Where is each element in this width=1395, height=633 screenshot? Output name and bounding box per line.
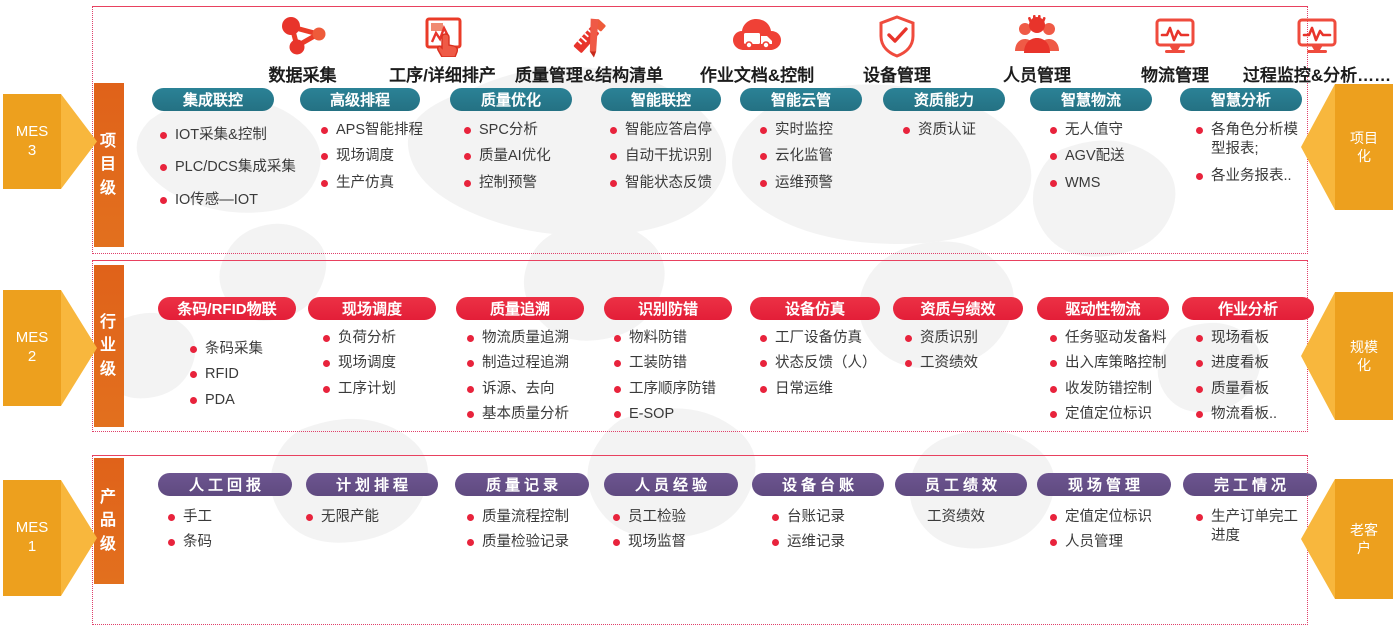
list-item: 生产仿真 bbox=[321, 174, 423, 193]
list-item: PDA bbox=[190, 391, 263, 410]
list-item: 日常运维 bbox=[760, 380, 877, 399]
pill-label: 人员经验 bbox=[631, 474, 711, 495]
list-mes2-col7: 现场看板 进度看板 质量看板 物流看板.. bbox=[1196, 329, 1277, 430]
pill-mes2-col2[interactable]: 质量追溯 bbox=[456, 297, 584, 320]
list-mes3-col5: 资质认证 bbox=[903, 121, 976, 147]
list-item: 物流看板.. bbox=[1196, 405, 1277, 424]
level-bar-project: 项 目 级 bbox=[94, 83, 124, 247]
list-mes2-col3: 物料防错 工装防错 工序顺序防错 E-SOP bbox=[614, 329, 716, 430]
pill-mes2-col5[interactable]: 资质与绩效 bbox=[893, 297, 1023, 320]
outcome-chevron-existing-customer-line2: 户 bbox=[1350, 539, 1378, 557]
pill-mes2-col0[interactable]: 条码/RFID物联 bbox=[158, 297, 296, 320]
pill-label: 资质与绩效 bbox=[920, 298, 995, 319]
monitor-pulse-icon bbox=[1152, 13, 1198, 59]
list-item: WMS bbox=[1050, 174, 1125, 193]
list-item: 各角色分析模型报表; bbox=[1196, 121, 1304, 160]
list-mes3-col0: IOT采集&控制 PLC/DCS集成采集 IO传感—IOT bbox=[160, 126, 296, 223]
stage-chevron-mes2[interactable]: MES 2 bbox=[3, 290, 61, 406]
list-item: AGV配送 bbox=[1050, 147, 1125, 166]
top-module-title: 工序/详细排产 bbox=[389, 61, 496, 86]
top-module-title: 物流管理 bbox=[1141, 61, 1209, 86]
pill-mes1-col3[interactable]: 人员经验 bbox=[604, 473, 738, 496]
pill-label: 人工回报 bbox=[185, 474, 265, 495]
list-item: 基本质量分析 bbox=[467, 405, 569, 424]
pill-label: 驱动性物流 bbox=[1065, 298, 1140, 319]
mes-capability-matrix-diagram: MES 3 MES 2 MES 1 项 目 级 行 业 级 产 品 级 项目 bbox=[0, 0, 1395, 633]
level-bar-industry-char-0: 行 bbox=[100, 311, 118, 334]
list-item: 智能应答启停 bbox=[610, 121, 712, 140]
list-item: 工序计划 bbox=[323, 380, 396, 399]
pill-mes1-col1[interactable]: 计划排程 bbox=[306, 473, 438, 496]
outcome-chevron-scale-line1: 规模 bbox=[1350, 338, 1378, 356]
list-item: 收发防错控制 bbox=[1050, 380, 1167, 399]
list-item: 工资绩效 bbox=[912, 508, 985, 527]
list-mes1-col7: 生产订单完工进度 bbox=[1196, 508, 1308, 553]
pill-label: 计划排程 bbox=[332, 474, 412, 495]
list-item: SPC分析 bbox=[464, 121, 551, 140]
scheduling-icon bbox=[420, 13, 466, 59]
list-item: 条码 bbox=[168, 533, 212, 552]
list-item: PLC/DCS集成采集 bbox=[160, 158, 296, 177]
pill-mes3-col4[interactable]: 智能云管 bbox=[740, 88, 862, 111]
level-bar-project-char-2: 级 bbox=[100, 177, 118, 200]
pill-label: 识别防错 bbox=[638, 298, 698, 319]
outcome-chevron-scale-line2: 化 bbox=[1350, 356, 1378, 374]
pill-label: 现场管理 bbox=[1064, 474, 1144, 495]
list-mes1-col2: 质量流程控制 质量检验记录 bbox=[467, 508, 569, 559]
list-item: 诉源、去向 bbox=[467, 380, 569, 399]
top-module-title: 质量管理&结构清单 bbox=[515, 61, 663, 86]
top-module-equipment[interactable]: 设备管理 bbox=[822, 6, 972, 86]
stage-chevron-mes1-line1: MES bbox=[16, 519, 49, 538]
pill-mes3-col3[interactable]: 智能联控 bbox=[601, 88, 721, 111]
level-bar-industry-char-1: 业 bbox=[100, 334, 118, 357]
pill-label: 智能云管 bbox=[771, 89, 831, 110]
level-bar-product-char-0: 产 bbox=[100, 486, 118, 509]
list-mes3-col7: 各角色分析模型报表; 各业务报表.. bbox=[1196, 121, 1304, 193]
people-group-icon bbox=[1013, 13, 1061, 59]
list-item: 台账记录 bbox=[772, 508, 845, 527]
list-item: 运维预警 bbox=[760, 174, 833, 193]
top-module-strip: 数据采集 工序/详细排产 bbox=[92, 6, 1308, 86]
list-item: 实时监控 bbox=[760, 121, 833, 140]
list-item: 无限产能 bbox=[306, 508, 379, 527]
list-mes2-col4: 工厂设备仿真 状态反馈（人） 日常运维 bbox=[760, 329, 877, 405]
pill-label: 智能联控 bbox=[631, 89, 691, 110]
list-item: 资质识别 bbox=[905, 329, 978, 348]
list-item: 质量AI优化 bbox=[464, 147, 551, 166]
level-bar-industry: 行 业 级 bbox=[94, 265, 124, 427]
pill-label: 质量优化 bbox=[481, 89, 541, 110]
top-module-title: 作业文档&控制 bbox=[700, 61, 814, 86]
list-item: 资质认证 bbox=[903, 121, 976, 140]
outcome-chevron-projectization-line2: 化 bbox=[1350, 147, 1378, 165]
list-mes1-col5: 工资绩效 bbox=[912, 508, 985, 533]
pill-mes3-col1[interactable]: 高级排程 bbox=[300, 88, 420, 111]
top-module-title: 过程监控&分析…… bbox=[1243, 61, 1391, 86]
list-mes2-col5: 资质识别 工资绩效 bbox=[905, 329, 978, 380]
pill-label: 现场调度 bbox=[342, 298, 402, 319]
top-module-title: 设备管理 bbox=[863, 61, 931, 86]
stage-chevron-mes2-line1: MES bbox=[16, 329, 49, 348]
list-item: 现场看板 bbox=[1196, 329, 1277, 348]
pill-mes3-col6[interactable]: 智慧物流 bbox=[1030, 88, 1152, 111]
list-mes2-col1: 负荷分析 现场调度 工序计划 bbox=[323, 329, 396, 405]
list-item: 自动干扰识别 bbox=[610, 147, 712, 166]
pill-mes1-col0[interactable]: 人工回报 bbox=[158, 473, 292, 496]
list-item: 现场调度 bbox=[321, 147, 423, 166]
level-bar-product-char-2: 级 bbox=[100, 533, 118, 556]
list-item: 工资绩效 bbox=[905, 354, 978, 373]
list-item: 状态反馈（人） bbox=[760, 354, 877, 373]
stage-chevron-mes3-line1: MES bbox=[16, 123, 49, 142]
level-bar-project-char-1: 目 bbox=[100, 153, 118, 176]
pill-mes1-col6[interactable]: 现场管理 bbox=[1037, 473, 1171, 496]
list-item: RFID bbox=[190, 365, 263, 384]
list-item: 任务驱动发备料 bbox=[1050, 329, 1167, 348]
pill-mes2-col7[interactable]: 作业分析 bbox=[1182, 297, 1314, 320]
pill-label: 条码/RFID物联 bbox=[177, 298, 276, 319]
list-mes2-col0: 条码采集 RFID PDA bbox=[190, 340, 263, 416]
list-item: 手工 bbox=[168, 508, 212, 527]
list-item: 物流质量追溯 bbox=[467, 329, 569, 348]
level-bar-product-char-1: 品 bbox=[100, 509, 118, 532]
list-item: IOT采集&控制 bbox=[160, 126, 296, 145]
list-item: 工厂设备仿真 bbox=[760, 329, 877, 348]
list-item: 控制预警 bbox=[464, 174, 551, 193]
pill-label: 智慧分析 bbox=[1211, 89, 1271, 110]
outcome-chevron-projectization[interactable]: 项目 化 bbox=[1335, 84, 1393, 210]
top-module-title: 人员管理 bbox=[1003, 61, 1071, 86]
pill-label: 设备仿真 bbox=[785, 298, 845, 319]
list-item: 负荷分析 bbox=[323, 329, 396, 348]
monitor-pulse-icon bbox=[1294, 13, 1340, 59]
quality-ruler-icon bbox=[566, 13, 612, 59]
list-item: 制造过程追溯 bbox=[467, 354, 569, 373]
list-item: 定值定位标识 bbox=[1050, 508, 1152, 527]
list-mes3-col1: APS智能排程 现场调度 生产仿真 bbox=[321, 121, 423, 200]
data-collection-icon bbox=[277, 13, 329, 59]
list-item: APS智能排程 bbox=[321, 121, 423, 140]
list-mes1-col3: 员工检验 现场监督 bbox=[613, 508, 686, 559]
pill-label: 集成联控 bbox=[183, 89, 243, 110]
list-item: 定值定位标识 bbox=[1050, 405, 1167, 424]
list-item: 出入库策略控制 bbox=[1050, 354, 1167, 373]
pill-mes2-col6[interactable]: 驱动性物流 bbox=[1037, 297, 1169, 320]
list-item: 运维记录 bbox=[772, 533, 845, 552]
stage-chevron-mes3-line2: 3 bbox=[16, 142, 49, 161]
pill-mes2-col1[interactable]: 现场调度 bbox=[308, 297, 436, 320]
pill-label: 设备台账 bbox=[778, 474, 858, 495]
pill-mes2-col4[interactable]: 设备仿真 bbox=[750, 297, 880, 320]
pill-mes1-col4[interactable]: 设备台账 bbox=[752, 473, 884, 496]
top-module-title: 数据采集 bbox=[269, 61, 337, 86]
top-module-personnel[interactable]: 人员管理 bbox=[962, 6, 1112, 86]
pill-label: 质量追溯 bbox=[490, 298, 550, 319]
list-item: 无人值守 bbox=[1050, 121, 1125, 140]
list-item: 工序顺序防错 bbox=[614, 380, 716, 399]
list-item: 工装防错 bbox=[614, 354, 716, 373]
list-item: 员工检验 bbox=[613, 508, 686, 527]
level-bar-product: 产 品 级 bbox=[94, 458, 124, 584]
list-item: 云化监管 bbox=[760, 147, 833, 166]
list-mes2-col6: 任务驱动发备料 出入库策略控制 收发防错控制 定值定位标识 bbox=[1050, 329, 1167, 430]
shield-check-icon bbox=[876, 13, 918, 59]
pill-mes3-col7[interactable]: 智慧分析 bbox=[1180, 88, 1302, 111]
list-item: 质量检验记录 bbox=[467, 533, 569, 552]
pill-mes1-col5[interactable]: 员工绩效 bbox=[895, 473, 1027, 496]
top-module-process-monitoring[interactable]: 过程监控&分析…… bbox=[1222, 6, 1395, 86]
list-item: 物料防错 bbox=[614, 329, 716, 348]
pill-label: 员工绩效 bbox=[921, 474, 1001, 495]
list-mes2-col2: 物流质量追溯 制造过程追溯 诉源、去向 基本质量分析 bbox=[467, 329, 569, 430]
stage-chevron-mes1[interactable]: MES 1 bbox=[3, 480, 61, 596]
pill-label: 完工情况 bbox=[1210, 474, 1290, 495]
list-item: 人员管理 bbox=[1050, 533, 1152, 552]
list-mes1-col4: 台账记录 运维记录 bbox=[772, 508, 845, 559]
pill-mes1-col2[interactable]: 质量记录 bbox=[455, 473, 589, 496]
outcome-chevron-scale[interactable]: 规模 化 bbox=[1335, 292, 1393, 420]
level-bar-industry-char-2: 级 bbox=[100, 358, 118, 381]
list-item: 生产订单完工进度 bbox=[1196, 508, 1308, 547]
list-mes1-col0: 手工 条码 bbox=[168, 508, 212, 559]
list-item: 各业务报表.. bbox=[1196, 167, 1304, 186]
list-item: 现场监督 bbox=[613, 533, 686, 552]
list-item: 进度看板 bbox=[1196, 354, 1277, 373]
list-mes3-col3: 智能应答启停 自动干扰识别 智能状态反馈 bbox=[610, 121, 712, 200]
pill-mes3-col5[interactable]: 资质能力 bbox=[883, 88, 1005, 111]
pill-label: 作业分析 bbox=[1218, 298, 1278, 319]
cloud-truck-icon bbox=[730, 13, 784, 59]
list-item: E-SOP bbox=[614, 405, 716, 424]
list-item: 质量看板 bbox=[1196, 380, 1277, 399]
pill-label: 质量记录 bbox=[482, 474, 562, 495]
outcome-chevron-existing-customer[interactable]: 老客 户 bbox=[1335, 479, 1393, 599]
list-mes1-col6: 定值定位标识 人员管理 bbox=[1050, 508, 1152, 559]
list-mes3-col4: 实时监控 云化监管 运维预警 bbox=[760, 121, 833, 200]
outcome-chevron-existing-customer-line1: 老客 bbox=[1350, 521, 1378, 539]
list-mes1-col1: 无限产能 bbox=[306, 508, 379, 533]
pill-mes2-col3[interactable]: 识别防错 bbox=[604, 297, 732, 320]
outcome-chevron-projectization-line1: 项目 bbox=[1350, 129, 1378, 147]
stage-chevron-mes1-line2: 1 bbox=[16, 538, 49, 557]
pill-mes3-col2[interactable]: 质量优化 bbox=[450, 88, 572, 111]
stage-chevron-mes3[interactable]: MES 3 bbox=[3, 94, 61, 189]
list-item: 现场调度 bbox=[323, 354, 396, 373]
list-mes3-col2: SPC分析 质量AI优化 控制预警 bbox=[464, 121, 551, 200]
pill-label: 资质能力 bbox=[914, 89, 974, 110]
list-item: IO传感—IOT bbox=[160, 191, 296, 210]
list-item: 质量流程控制 bbox=[467, 508, 569, 527]
list-item: 条码采集 bbox=[190, 340, 263, 359]
stage-chevron-mes2-line2: 2 bbox=[16, 348, 49, 367]
level-bar-project-char-0: 项 bbox=[100, 130, 118, 153]
pill-label: 高级排程 bbox=[330, 89, 390, 110]
pill-label: 智慧物流 bbox=[1061, 89, 1121, 110]
list-item: 智能状态反馈 bbox=[610, 174, 712, 193]
pill-mes1-col7[interactable]: 完工情况 bbox=[1183, 473, 1317, 496]
list-mes3-col6: 无人值守 AGV配送 WMS bbox=[1050, 121, 1125, 200]
pill-mes3-col0[interactable]: 集成联控 bbox=[152, 88, 274, 111]
